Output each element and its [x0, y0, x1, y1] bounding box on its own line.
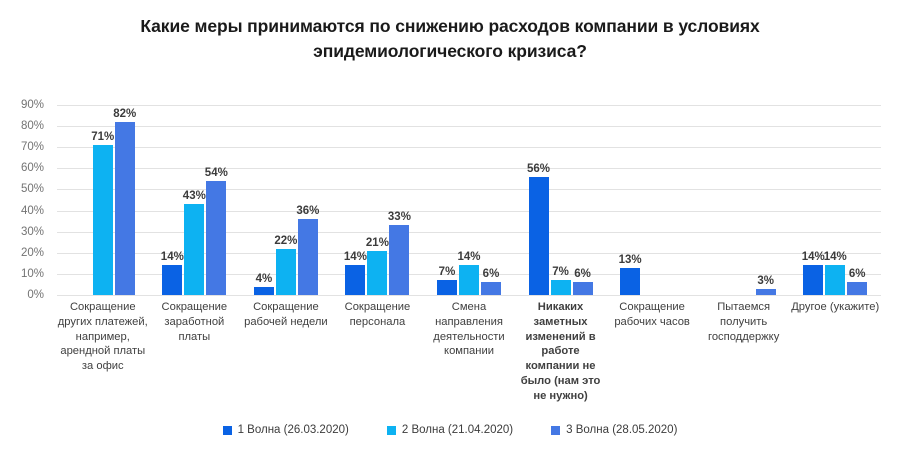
bar-value-label: 14%: [457, 251, 480, 263]
bar[interactable]: 22%: [276, 249, 296, 295]
bar-fill: [115, 122, 135, 295]
x-axis-category-label: Сокращение персонала: [332, 300, 424, 330]
bar[interactable]: 7%: [551, 280, 571, 295]
bar-fill: [459, 265, 479, 295]
bar-group: 3%: [698, 105, 790, 295]
bar-value-label: 6%: [574, 268, 591, 280]
bar-value-label: 36%: [296, 205, 319, 217]
bar-fill: [756, 289, 776, 295]
bar-value-label: 56%: [527, 163, 550, 175]
bar-fill: [184, 204, 204, 295]
bar-fill: [803, 265, 823, 295]
y-axis-tick-label: 30%: [21, 226, 44, 238]
bar[interactable]: 14%: [345, 265, 365, 295]
bar[interactable]: 3%: [756, 289, 776, 295]
legend-color-swatch: [551, 426, 560, 435]
bar-fill: [389, 225, 409, 295]
bar-group: 4%22%36%: [240, 105, 332, 295]
bar-value-label: 7%: [552, 266, 569, 278]
bar[interactable]: 54%: [206, 181, 226, 295]
bar-fill: [573, 282, 593, 295]
bar-fill: [367, 251, 387, 295]
bar-value-label: 33%: [388, 211, 411, 223]
x-axis-category-labels: Сокращение других платежей, например, ар…: [57, 300, 881, 420]
y-axis-tick-label: 90%: [21, 99, 44, 111]
bar-group: 56%7%6%: [515, 105, 607, 295]
bar-value-label: 71%: [91, 131, 114, 143]
bar-fill: [276, 249, 296, 295]
bar-fill: [847, 282, 867, 295]
bar-group: 14%21%33%: [332, 105, 424, 295]
legend-item[interactable]: 2 Волна (21.04.2020): [387, 424, 513, 436]
bar-value-label: 14%: [344, 251, 367, 263]
bar[interactable]: 14%: [803, 265, 823, 295]
x-axis-category-label: Пытаемся получить господдержку: [698, 300, 790, 344]
bar-fill: [93, 145, 113, 295]
y-axis-tick-label: 10%: [21, 268, 44, 280]
bar[interactable]: 14%: [825, 265, 845, 295]
bar[interactable]: 4%: [254, 287, 274, 295]
bar-value-label: 4%: [256, 273, 273, 285]
bar-value-label: 14%: [802, 251, 825, 263]
bar[interactable]: 21%: [367, 251, 387, 295]
bar-fill: [551, 280, 571, 295]
legend-item[interactable]: 1 Волна (26.03.2020): [223, 424, 349, 436]
bar-group: 14%43%54%: [149, 105, 241, 295]
bar-fill: [825, 265, 845, 295]
bar-value-label: 21%: [366, 237, 389, 249]
x-axis-category-label: Сокращение рабочих часов: [606, 300, 698, 330]
bar[interactable]: 56%: [529, 177, 549, 295]
legend-item[interactable]: 3 Волна (28.05.2020): [551, 424, 677, 436]
y-axis-tick-label: 20%: [21, 247, 44, 259]
bar-value-label: 82%: [113, 108, 136, 120]
bar-group: 71%82%: [57, 105, 149, 295]
bar-value-label: 14%: [161, 251, 184, 263]
bar[interactable]: 6%: [573, 282, 593, 295]
x-axis-category-label: Сокращение рабочей недели: [240, 300, 332, 330]
bar[interactable]: 71%: [93, 145, 113, 295]
bar-fill: [529, 177, 549, 295]
bar-value-label: 3%: [757, 275, 774, 287]
bar-fill: [481, 282, 501, 295]
y-axis-tick-label: 70%: [21, 141, 44, 153]
bar[interactable]: 6%: [481, 282, 501, 295]
bar[interactable]: 36%: [298, 219, 318, 295]
bar[interactable]: 6%: [847, 282, 867, 295]
bar-fill: [254, 287, 274, 295]
x-axis-category-label: Другое (укажите): [789, 300, 881, 315]
legend-label: 1 Волна (26.03.2020): [238, 424, 349, 436]
legend-label: 3 Волна (28.05.2020): [566, 424, 677, 436]
legend-color-swatch: [223, 426, 232, 435]
y-axis-tick-label: 60%: [21, 162, 44, 174]
legend-color-swatch: [387, 426, 396, 435]
bar[interactable]: 14%: [162, 265, 182, 295]
bar[interactable]: 14%: [459, 265, 479, 295]
x-axis-category-label: Смена направления деятельности компании: [423, 300, 515, 359]
y-axis-tick-label: 0%: [27, 289, 44, 301]
y-axis-tick-label: 80%: [21, 120, 44, 132]
bar[interactable]: 7%: [437, 280, 457, 295]
plot-area: 71%82%14%43%54%4%22%36%14%21%33%7%14%6%5…: [57, 105, 881, 295]
bar-fill: [206, 181, 226, 295]
bar-value-label: 7%: [439, 266, 456, 278]
bar[interactable]: 33%: [389, 225, 409, 295]
y-axis-tick-label: 50%: [21, 183, 44, 195]
bar-group: 7%14%6%: [423, 105, 515, 295]
bar-fill: [437, 280, 457, 295]
bar-fill: [620, 268, 640, 295]
y-axis: 90%80%70%60%50%40%30%20%10%0%: [0, 105, 50, 296]
chart-container: Какие меры принимаются по снижению расхо…: [0, 0, 900, 451]
x-axis-category-label: Сокращение заработной платы: [149, 300, 241, 344]
bar-value-label: 14%: [824, 251, 847, 263]
chart-title: Какие меры принимаются по снижению расхо…: [60, 14, 840, 65]
x-axis-category-label: Сокращение других платежей, например, ар…: [57, 300, 149, 374]
bar-fill: [162, 265, 182, 295]
bar-value-label: 6%: [849, 268, 866, 280]
gridline: [57, 295, 881, 296]
y-axis-tick-label: 40%: [21, 205, 44, 217]
bar[interactable]: 82%: [115, 122, 135, 295]
bar-fill: [345, 265, 365, 295]
bar-fill: [298, 219, 318, 295]
bar-value-label: 13%: [619, 254, 642, 266]
bar-value-label: 6%: [483, 268, 500, 280]
x-axis-category-label: Никаких заметных изменений в работе комп…: [515, 300, 607, 403]
bar-value-label: 43%: [183, 190, 206, 202]
chart-legend: 1 Волна (26.03.2020)2 Волна (21.04.2020)…: [0, 424, 900, 436]
bar-value-label: 54%: [205, 167, 228, 179]
bar-value-label: 22%: [274, 235, 297, 247]
bar-group: 13%: [606, 105, 698, 295]
bar[interactable]: 13%: [620, 268, 640, 295]
bar-group: 14%14%6%: [789, 105, 881, 295]
bar[interactable]: 43%: [184, 204, 204, 295]
legend-label: 2 Волна (21.04.2020): [402, 424, 513, 436]
